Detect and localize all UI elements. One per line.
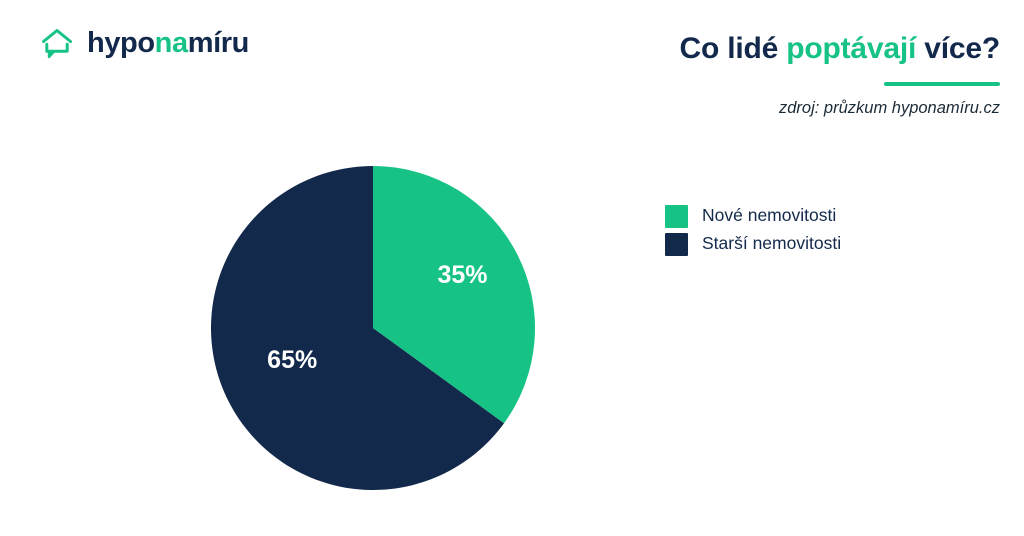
brand-logo[interactable]: hyponamíru: [40, 26, 249, 60]
source-caption: zdroj: průzkum hyponamíru.cz: [779, 99, 1000, 118]
title-segment-3: více?: [916, 32, 1000, 65]
page-title: Co lidé poptávají více?: [680, 32, 1001, 65]
pie-label-starsi-nemovitosti: 65%: [267, 346, 317, 374]
logo-text-miru: míru: [188, 27, 249, 59]
legend-item-starsi-nemovitosti[interactable]: Starší nemovitosti: [665, 230, 841, 258]
title-underline-rule: [884, 82, 1000, 86]
title-segment-highlight: poptávají: [786, 32, 916, 65]
chart-legend: Nové nemovitosti Starší nemovitosti: [665, 202, 841, 258]
legend-item-label: Nové nemovitosti: [702, 207, 836, 225]
legend-swatch-icon: [665, 233, 688, 256]
infographic-canvas: hyponamíru Co lidé poptávají více? zdroj…: [0, 0, 1024, 536]
pie-chart: 35% 65%: [211, 166, 535, 490]
title-segment-1: Co lidé: [680, 32, 787, 65]
legend-swatch-icon: [665, 205, 688, 228]
logo-text-na: na: [155, 27, 188, 59]
logo-text-hypo: hypo: [87, 27, 155, 59]
pie-label-nove-nemovitosti: 35%: [437, 261, 487, 289]
house-speech-bubble-icon: [40, 26, 74, 60]
legend-item-label: Starší nemovitosti: [702, 235, 841, 253]
legend-item-nove-nemovitosti[interactable]: Nové nemovitosti: [665, 202, 841, 230]
brand-logo-text: hyponamíru: [87, 29, 249, 58]
